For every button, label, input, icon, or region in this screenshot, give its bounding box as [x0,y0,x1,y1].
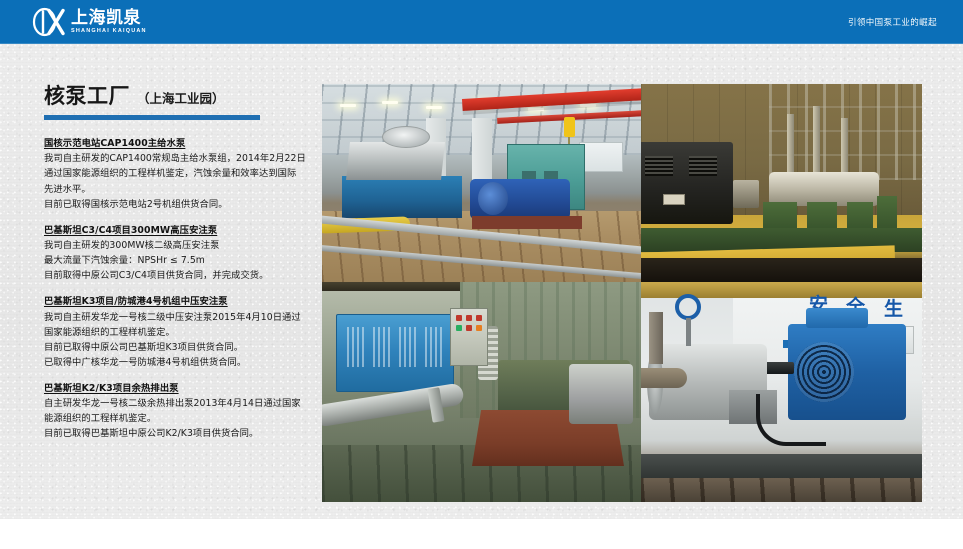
photo-blue-motor-green-pump [322,282,641,502]
ceiling-lamp [528,108,544,111]
title-underline-rule [44,115,260,120]
block-line: 目前取得中原公司C3/C4项目供货合同，并完成交货。 [44,268,316,283]
text-block: 巴基斯坦K3项目/防城港4号机组中压安注泵 我司自主研发华龙一号核二级中压安注泵… [44,295,316,370]
block-line: 我司自主研发华龙一号核二级中压安注泵2015年4月10日通过 [44,310,316,325]
blue-electric-motor [336,314,454,392]
brand-name-cn: 上海凯泉 [71,10,147,27]
steel-pump-body [769,172,879,206]
block-line: 自主研发华龙一号核二级余热排出泵2013年4月14日通过国家 [44,396,316,411]
text-block: 国核示范电站CAP1400主给水泵 我司自主研发的CAP1400常规岛主给水泵组… [44,137,316,212]
block-heading: 国核示范电站CAP1400主给水泵 [44,137,316,151]
blue-handwheel-valve-icon [675,294,701,320]
motor-vent [689,156,717,176]
panel-indicator [466,325,472,331]
block-heading: 巴基斯坦C3/C4项目300MW高压安注泵 [44,224,316,238]
red-base-frame [472,216,582,229]
ceiling-lamp [340,104,356,107]
page-title-main: 核泵工厂 [44,80,130,110]
steel-pump-end [569,364,633,424]
brand-logo[interactable]: 上海凯泉 SHANGHAI KAIQUAN [32,6,147,38]
wall-sign-char: 生 [884,294,903,321]
motor-vent [645,156,673,176]
motor-cooling-fin [347,327,365,367]
panel-indicator [456,325,462,331]
panel-indicator [466,315,472,321]
block-line: 能源组织的工程样机鉴定。 [44,411,316,426]
suction-nozzle [641,368,687,388]
header-tagline: 引领中国泵工业的崛起 [848,0,937,44]
ceiling-lamp [580,104,596,107]
blue-skid-base [342,176,462,218]
block-line: 已取得中广核华龙一号防城港4号机组供货合同。 [44,355,316,370]
nameplate [663,194,685,205]
black-motor [641,142,733,224]
block-line: 目前已取得国核示范电站2号机组供货合同。 [44,197,316,212]
vertical-pipe [649,312,663,364]
block-heading: 巴基斯坦K3项目/防城港4号机组中压安注泵 [44,295,316,309]
motor-cooling-fin [399,327,417,367]
text-block: 巴基斯坦K2/K3项目余热排出泵 自主研发华龙一号核二级余热排出泵2013年4月… [44,382,316,442]
block-line: 我司自主研发的CAP1400常规岛主给水泵组，2014年2月22日 [44,151,316,166]
slide-root: 上海凯泉 SHANGHAI KAIQUAN 引领中国泵工业的崛起 核泵工厂 （上… [0,0,963,549]
ground-rails [641,478,922,502]
photo-grid: 安 全 生 [322,84,922,502]
content-column: 核泵工厂 （上海工业园） 国核示范电站CAP1400主给水泵 我司自主研发的CA… [44,80,316,441]
photo-blue-motor-steel-pump: 安 全 生 [641,282,922,502]
block-line: 目前已取得中原公司巴基斯坦K3项目供货合同。 [44,340,316,355]
floor-shadow [641,258,922,282]
drive-shaft [764,362,794,374]
block-line: 最大流量下汽蚀余量：NPSHr ≤ 7.5m [44,253,316,268]
shaft-coupling [733,180,759,208]
block-heading: 巴基斯坦K2/K3项目余热排出泵 [44,382,316,396]
block-line: 国家能源组织的工程样机鉴定。 [44,325,316,340]
panel-indicator [456,315,462,321]
silver-insulation-jacket [346,142,445,180]
crane-hoist [564,117,575,137]
steel-baseframe [641,454,922,480]
motor-cooling-fin [425,327,443,367]
ceiling-lamp [426,106,442,109]
block-line: 目前已取得巴基斯坦中原公司K2/K3项目供货合同。 [44,426,316,441]
brand-name-en: SHANGHAI KAIQUAN [71,29,147,34]
page-title: 核泵工厂 （上海工业园） [44,80,316,110]
valve-stem [686,318,691,346]
motor-terminal-box [806,308,868,328]
block-line: 我司自主研发的300MW核二级高压安注泵 [44,238,316,253]
photo-factory-test-bay [322,84,641,282]
header-bar: 上海凯泉 SHANGHAI KAIQUAN 引领中国泵工业的崛起 [0,0,963,44]
dish-reflector [382,126,430,148]
block-line: 先进水平。 [44,182,316,197]
motor-vent-grille [794,342,854,402]
power-cable [756,394,826,446]
text-block: 巴基斯坦C3/C4项目300MW高压安注泵 我司自主研发的300MW核二级高压安… [44,224,316,284]
slide-bottom-margin [0,519,963,549]
kaiquan-k-mark-icon [32,7,66,37]
control-panel [450,308,488,366]
pump-impeller-casing [478,182,508,215]
panel-indicator [476,325,482,331]
brand-text: 上海凯泉 SHANGHAI KAIQUAN [71,10,147,35]
block-line: 通过国家能源组织的工程样机鉴定，汽蚀余量和效率达到国际 [44,166,316,181]
page-title-sub: （上海工业园） [137,88,225,107]
ceiling-lamp [382,101,398,104]
panel-indicator [476,315,482,321]
photo-green-pump-plant [641,84,922,282]
text-blocks: 国核示范电站CAP1400主给水泵 我司自主研发的CAP1400常规岛主给水泵组… [44,137,316,441]
motor-cooling-fin [373,327,391,367]
blue-pump-unit [470,179,570,219]
factory-window [579,142,623,172]
